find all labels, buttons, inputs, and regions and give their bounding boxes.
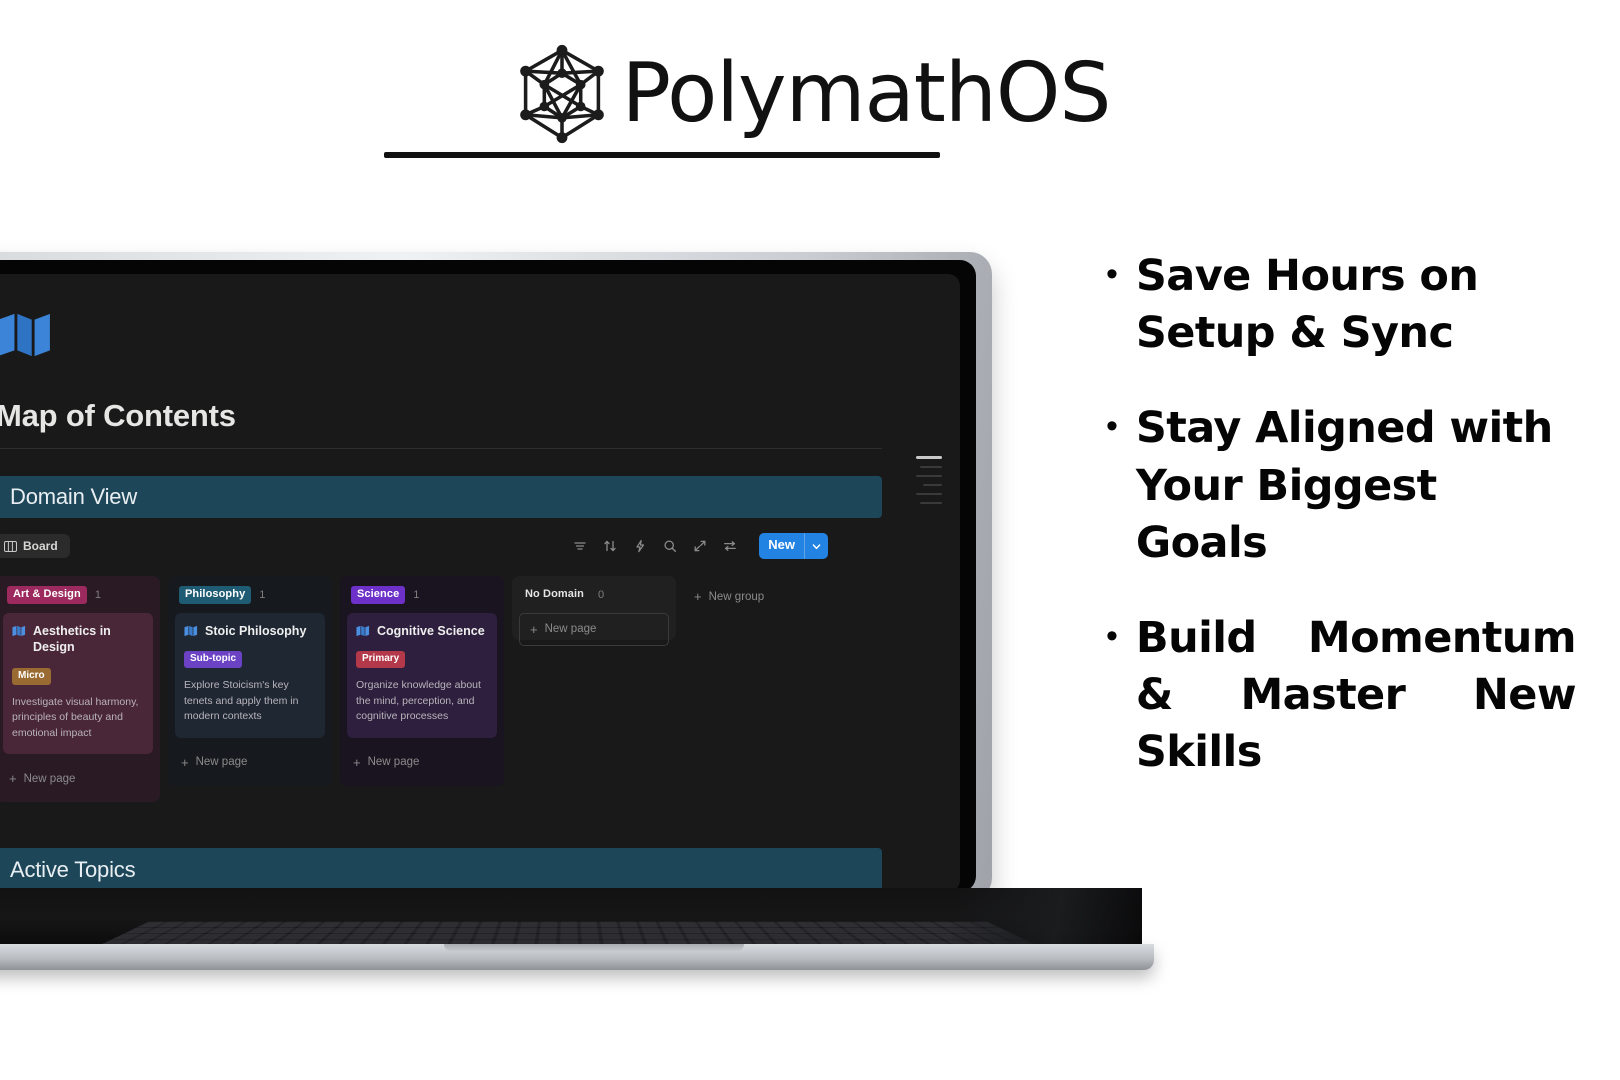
new-page-button[interactable]: + New page [3,763,153,794]
title-divider [0,448,882,449]
card-description: Explore Stoicism's key tenets and apply … [184,678,316,725]
bullet-text: Stay Aligned with Your Biggest Goals [1136,400,1576,572]
plus-icon: + [181,756,189,769]
column-count: 1 [413,589,419,601]
laptop-keyboard-deck [0,888,1142,952]
laptop-bezel: Map of Contents Domain View [0,260,976,892]
bullet-dot-icon: • [1106,610,1118,662]
column-count: 1 [259,589,265,601]
new-button-label: New [759,533,804,558]
card-title: Aesthetics in Design [33,623,144,656]
board-column-philosophy: Philosophy 1 [168,576,332,786]
column-badge: Philosophy [179,586,251,604]
column-header: No Domain 0 [523,586,669,604]
column-header: Art & Design 1 [7,586,153,604]
bullet-dot-icon: • [1106,400,1118,452]
expand-icon[interactable] [693,539,707,553]
plus-icon: + [694,590,702,603]
laptop-mockup: Map of Contents Domain View [0,252,1178,970]
column-count: 1 [95,589,101,601]
bullet-text: Build Momentum & Master New Skills [1136,610,1576,839]
list-item: • Save Hours on Setup & Sync [1106,248,1576,362]
benefits-list: • Save Hours on Setup & Sync • Stay Alig… [1106,248,1576,877]
switch-icon[interactable] [723,539,737,553]
table-of-contents-indicator[interactable] [916,456,942,504]
laptop-screen: Map of Contents Domain View [0,274,960,892]
column-badge: No Domain [523,586,590,604]
column-badge: Science [351,586,405,604]
bullet-dot-icon: • [1106,248,1118,300]
board-card[interactable]: Aesthetics in Design Micro Investigate v… [3,613,153,755]
new-page-label: New page [368,756,420,768]
chevron-down-icon [811,541,822,552]
new-group-button[interactable]: + New group [694,590,764,603]
column-count: 0 [598,589,604,601]
column-badge: Art & Design [7,586,87,604]
notion-page: Map of Contents Domain View [0,274,960,892]
keyboard-keys [98,921,1038,946]
new-group-label: New group [709,591,765,603]
board-card[interactable]: Cognitive Science Primary Organize knowl… [347,613,497,738]
card-tag: Primary [356,651,405,668]
page-title: Map of Contents [0,398,960,434]
new-button[interactable]: New [759,533,828,558]
map-icon [12,625,26,637]
new-page-button[interactable]: + New page [519,613,669,646]
new-page-label: New page [545,623,597,635]
plus-icon: + [9,772,17,785]
card-description: Organize knowledge about the mind, perce… [356,678,488,725]
board-columns: Art & Design 1 [0,576,960,802]
board-columns-icon [4,541,17,552]
column-header: Philosophy 1 [179,586,325,604]
laptop-lid: Map of Contents Domain View [0,252,992,900]
card-tag: Sub-topic [184,651,242,668]
tab-board-label: Board [23,539,58,553]
callout-domain-view: Domain View [0,476,882,518]
slide-root: PolymathOS Map of Contents Domain View [0,0,1620,1080]
list-item: • Build Momentum & Master New Skills [1106,610,1576,839]
map-icon [184,625,198,637]
column-header: Science 1 [351,586,497,604]
card-description: Investigate visual harmony, principles o… [12,695,144,742]
toc-marker-active[interactable] [916,456,942,459]
toc-marker[interactable] [916,475,942,477]
list-item: • Stay Aligned with Your Biggest Goals [1106,400,1576,572]
brand-header: PolymathOS [0,42,1620,146]
toolbar-icons: New [573,533,828,558]
tab-board-view[interactable]: Board [0,534,70,558]
network-graph-icon [510,42,614,146]
sort-icon[interactable] [603,539,617,553]
bullet-text: Save Hours on Setup & Sync [1136,248,1576,362]
board-column-art-design: Art & Design 1 [0,576,160,802]
card-title: Cognitive Science [377,623,485,640]
toc-marker[interactable] [923,484,942,486]
map-icon [356,625,370,637]
plus-icon: + [530,623,538,636]
brand-underline [384,152,940,158]
toc-marker[interactable] [920,466,942,468]
card-tag: Micro [12,668,51,685]
new-page-label: New page [196,756,248,768]
laptop-base [0,944,1154,970]
toc-marker[interactable] [920,502,942,504]
brand-name: PolymathOS [622,53,1111,135]
filter-icon[interactable] [573,539,587,553]
new-page-button[interactable]: + New page [347,747,497,778]
board-card[interactable]: Stoic Philosophy Sub-topic Explore Stoic… [175,613,325,738]
database-toolbar: Board [0,526,896,566]
callout-active-topics: Active Topics [0,848,882,892]
plus-icon: + [353,756,361,769]
board-column-no-domain: No Domain 0 + New page [512,576,676,640]
search-icon[interactable] [663,539,677,553]
lightning-automation-icon[interactable] [633,539,647,553]
new-page-label: New page [24,773,76,785]
new-button-dropdown[interactable] [805,533,828,558]
new-page-button[interactable]: + New page [175,747,325,778]
card-title: Stoic Philosophy [205,623,306,640]
laptop-base-notch [444,944,744,951]
board-column-science: Science 1 [340,576,504,786]
map-icon [0,312,54,358]
toc-marker[interactable] [916,493,942,495]
